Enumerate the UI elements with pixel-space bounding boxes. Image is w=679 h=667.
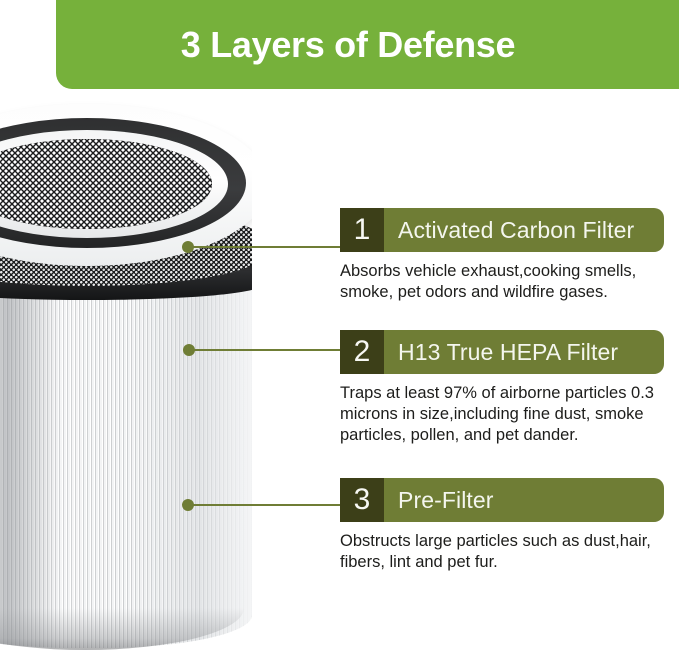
callout-1: 1 Activated Carbon Filter Absorbs vehicl… — [340, 208, 676, 303]
leader-line-3 — [190, 504, 342, 506]
product-image-filter — [0, 96, 252, 667]
header-banner: 3 Layers of Defense — [56, 0, 679, 89]
infographic-canvas: 3 Layers of Defense 1 Activated Carbon F… — [0, 0, 679, 667]
callout-3: 3 Pre-Filter Obstructs large particles s… — [340, 478, 676, 573]
callout-1-number: 1 — [340, 208, 384, 252]
leader-line-2 — [191, 349, 342, 351]
callout-1-title: Activated Carbon Filter — [384, 208, 664, 252]
top-mesh-shading-overlay — [0, 139, 212, 229]
callout-2-header: 2 H13 True HEPA Filter — [340, 330, 664, 374]
callout-3-description: Obstructs large particles such as dust,h… — [340, 531, 676, 573]
callout-3-number: 3 — [340, 478, 384, 522]
leader-line-1 — [190, 246, 342, 248]
callout-3-title: Pre-Filter — [384, 478, 664, 522]
top-honeycomb-mesh — [0, 139, 212, 229]
callout-1-description: Absorbs vehicle exhaust,cooking smells, … — [340, 261, 676, 303]
callout-2: 2 H13 True HEPA Filter Traps at least 97… — [340, 330, 676, 446]
page-title: 3 Layers of Defense — [56, 24, 640, 66]
callout-2-title: H13 True HEPA Filter — [384, 330, 664, 374]
callout-2-number: 2 — [340, 330, 384, 374]
callout-1-header: 1 Activated Carbon Filter — [340, 208, 664, 252]
pleated-hepa-body — [0, 282, 252, 648]
callout-3-header: 3 Pre-Filter — [340, 478, 664, 522]
body-shading-overlay — [0, 282, 252, 648]
callout-2-description: Traps at least 97% of airborne particles… — [340, 383, 676, 446]
